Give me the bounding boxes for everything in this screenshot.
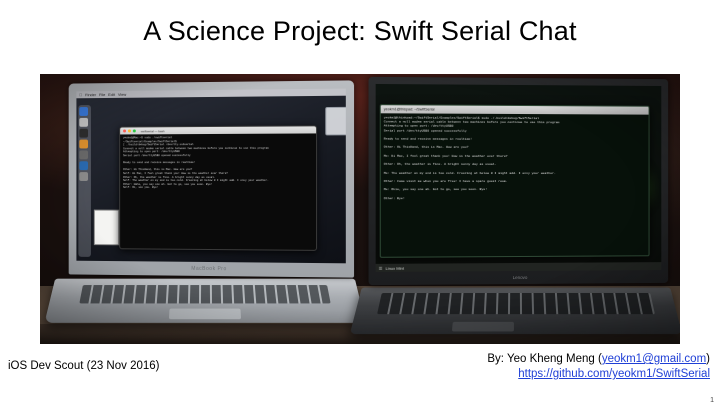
dock-icon-terminal (79, 129, 88, 138)
menubar-item: View (118, 92, 126, 97)
slide-photo:  Finder File Edit View (40, 74, 680, 344)
linux-laptop: yeokm1@thispad: ~/SwiftSerial yeokm1@thi… (356, 78, 676, 334)
macbook-base (44, 279, 365, 323)
macos-dock (78, 105, 91, 257)
footer-repo: https://github.com/yeokm1/SwiftSerial (487, 367, 710, 382)
macbook-screen:  Finder File Edit View (76, 89, 345, 264)
dock-icon-mail (79, 161, 88, 170)
macos-menubar:  Finder File Edit View (76, 89, 345, 99)
footer-byline: By: Yeo Kheng Meng (yeokm1@gmail.com) (487, 352, 710, 367)
linux-lid: yeokm1@thispad: ~/SwiftSerial yeokm1@thi… (369, 77, 669, 285)
byline-prefix: By: Yeo Kheng Meng ( (487, 353, 601, 365)
menubar-item: File (99, 92, 105, 97)
macbook-keyboard (79, 285, 330, 303)
linux-terminal-output: yeokm1@thinkpad:~/SwiftSerial/Examples/S… (381, 113, 649, 202)
menubar-item: Finder (85, 92, 96, 97)
minimize-icon[interactable] (128, 129, 131, 132)
page-number: 1 (710, 397, 714, 404)
linux-chin-label: Lenovo (369, 270, 669, 285)
footer-author-block: By: Yeo Kheng Meng (yeokm1@gmail.com) ht… (487, 352, 710, 382)
taskbar-label: Linux Mint (385, 265, 404, 270)
linux-terminal-title: yeokm1@thispad: ~/SwiftSerial (384, 107, 435, 111)
page-title: A Science Project: Swift Serial Chat (0, 16, 720, 47)
macos-terminal-title: swiftserial — bash (141, 129, 165, 133)
linux-screen: yeokm1@thispad: ~/SwiftSerial yeokm1@thi… (376, 84, 662, 272)
linux-keyboard (377, 293, 655, 314)
menubar-item: Edit (108, 92, 115, 97)
macos-desktop:  Finder File Edit View (76, 89, 345, 264)
macos-terminal-output: yeokm1@Mac:~$ sudo ./swiftserial ~/Swift… (120, 133, 316, 192)
linux-terminal-window: yeokm1@thispad: ~/SwiftSerial yeokm1@thi… (380, 104, 650, 258)
footer-event-label: iOS Dev Scout (23 Nov 2016) (8, 360, 160, 372)
maximize-icon[interactable] (133, 129, 136, 132)
apple-icon:  (79, 92, 82, 97)
author-email-link[interactable]: yeokm1@gmail.com (602, 353, 706, 365)
macos-background-window (325, 107, 346, 136)
dock-icon-settings (79, 150, 88, 159)
dock-icon-misc (79, 172, 88, 181)
repo-url-link[interactable]: https://github.com/yeokm1/SwiftSerial (518, 368, 710, 380)
dock-icon-safari (79, 118, 88, 127)
close-icon[interactable] (123, 129, 126, 132)
linux-base (350, 288, 680, 334)
macbook-chin-label: MacBook Pro (69, 261, 354, 278)
linux-mint-desktop: yeokm1@thispad: ~/SwiftSerial yeokm1@thi… (376, 84, 662, 272)
macos-document-thumbnail (94, 210, 119, 246)
linux-trackpad (452, 322, 514, 332)
macos-terminal-window: swiftserial — bash yeokm1@Mac:~$ sudo ./… (119, 125, 317, 251)
dock-icon-xcode (79, 140, 88, 149)
macbook-trackpad (169, 309, 241, 320)
byline-suffix: ) (706, 353, 710, 365)
macbook-laptop:  Finder File Edit View (50, 82, 360, 332)
macbook-lid:  Finder File Edit View (69, 80, 354, 277)
menu-icon[interactable]: ☰ (379, 265, 383, 270)
dock-icon-finder (79, 107, 88, 116)
